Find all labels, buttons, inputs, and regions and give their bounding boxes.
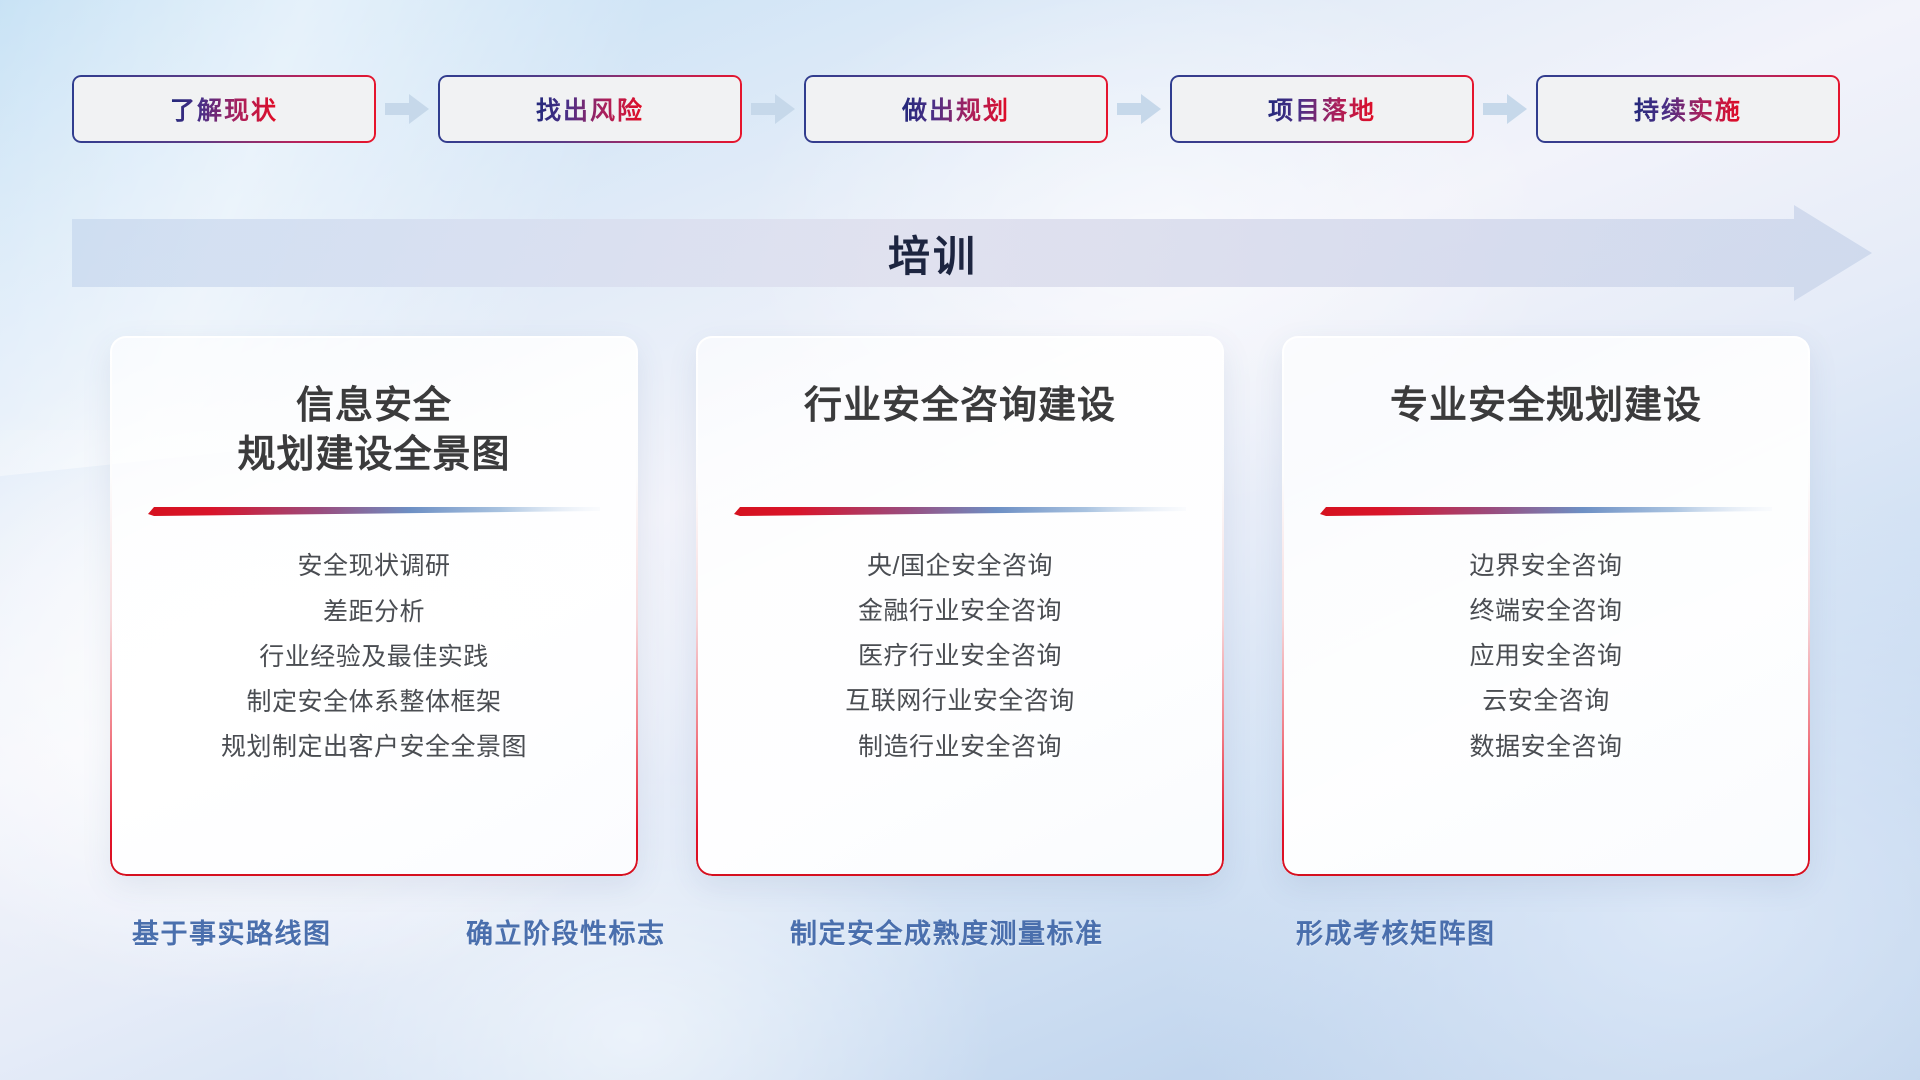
step-box-1[interactable]: 了解现状 [72, 75, 376, 143]
training-banner: 培训 [72, 205, 1872, 301]
process-step-row: 了解现状 找出风险 做出规划 项目落地 持续实施 [72, 74, 1854, 144]
caption-3: 制定安全成熟度测量标准 [790, 900, 1104, 962]
list-item: 央/国企安全咨询 [867, 551, 1053, 582]
card-title: 行业安全咨询建设 [804, 382, 1116, 431]
list-item: 互联网行业安全咨询 [845, 686, 1075, 717]
card-divider [1320, 505, 1772, 517]
step-label: 做出规划 [902, 91, 1010, 127]
caption-row: 基于事实路线图 确立阶段性标志 制定安全成熟度测量标准 形成考核矩阵图 [0, 900, 1920, 962]
list-item: 医疗行业安全咨询 [858, 641, 1062, 672]
list-item: 终端安全咨询 [1469, 596, 1622, 627]
list-item: 行业经验及最佳实践 [259, 642, 489, 673]
caption-1: 基于事实路线图 [132, 900, 332, 962]
list-item: 应用安全咨询 [1469, 641, 1622, 672]
caption-4: 形成考核矩阵图 [1296, 900, 1496, 962]
card-item-list: 边界安全咨询 终端安全咨询 应用安全咨询 云安全咨询 数据安全咨询 [1308, 551, 1784, 763]
step-box-4[interactable]: 项目落地 [1170, 75, 1474, 143]
banner-title: 培训 [72, 205, 1794, 301]
card-information-security-blueprint[interactable]: 信息安全 规划建设全景图 [110, 336, 638, 876]
card-row: 信息安全 规划建设全景图 [110, 336, 1810, 876]
card-item-list: 安全现状调研 差距分析 行业经验及最佳实践 制定安全体系整体框架 规划制定出客户… [136, 551, 612, 763]
step-label: 持续实施 [1634, 91, 1742, 127]
card-professional-security-planning[interactable]: 专业安全规划建设 [1282, 336, 1810, 876]
step-box-2[interactable]: 找出风险 [438, 75, 742, 143]
list-item: 制造行业安全咨询 [858, 732, 1062, 763]
caption-2: 确立阶段性标志 [466, 900, 666, 962]
list-item: 数据安全咨询 [1469, 732, 1622, 763]
list-item: 规划制定出客户安全全景图 [221, 732, 527, 763]
card-title: 信息安全 规划建设全景图 [237, 382, 510, 479]
step-label: 项目落地 [1268, 91, 1376, 127]
list-item: 制定安全体系整体框架 [246, 687, 501, 718]
card-title-line-1: 行业安全咨询建设 [804, 382, 1116, 431]
list-item: 安全现状调研 [297, 551, 450, 582]
step-arrow-right-icon-3 [1108, 75, 1170, 143]
card-title-line-1: 专业安全规划建设 [1390, 382, 1702, 431]
card-title: 专业安全规划建设 [1390, 382, 1702, 431]
step-arrow-right-icon-1 [376, 75, 438, 143]
step-label: 找出风险 [536, 91, 644, 127]
step-box-3[interactable]: 做出规划 [804, 75, 1108, 143]
card-item-list: 央/国企安全咨询 金融行业安全咨询 医疗行业安全咨询 互联网行业安全咨询 制造行… [722, 551, 1198, 763]
list-item: 云安全咨询 [1482, 686, 1610, 717]
card-divider [734, 505, 1186, 517]
card-divider [148, 505, 600, 517]
list-item: 边界安全咨询 [1469, 551, 1622, 582]
card-industry-security-consulting[interactable]: 行业安全咨询建设 [696, 336, 1224, 876]
step-label: 了解现状 [170, 91, 278, 127]
card-title-line-2: 规划建设全景图 [237, 431, 510, 480]
step-box-5[interactable]: 持续实施 [1536, 75, 1840, 143]
card-title-line-1: 信息安全 [237, 382, 510, 431]
step-arrow-right-icon-2 [742, 75, 804, 143]
list-item: 差距分析 [323, 597, 425, 628]
list-item: 金融行业安全咨询 [858, 596, 1062, 627]
step-arrow-right-icon-4 [1474, 75, 1536, 143]
